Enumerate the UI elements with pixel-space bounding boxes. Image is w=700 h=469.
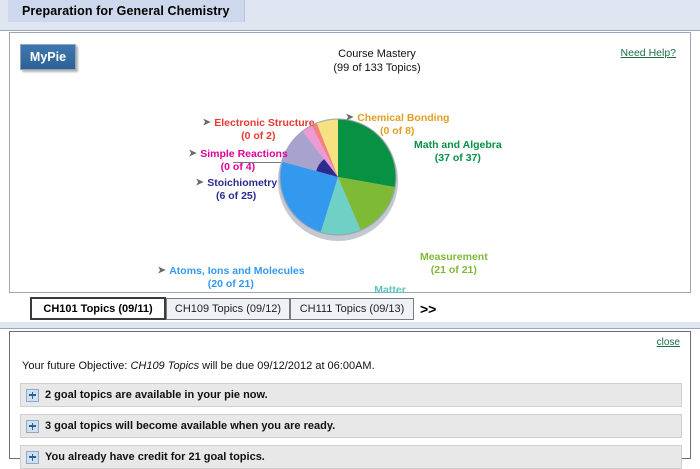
arrow-marker-icon: ➤ [157, 265, 166, 278]
tab-rule [0, 322, 700, 329]
pie-label-stoichiometry-count: (6 of 25) [195, 190, 277, 203]
objective-suffix: will be due 09/12/2012 at 06:00AM. [199, 360, 375, 372]
pie-label-math-and-algebra[interactable]: Math and Algebra (37 of 37) [414, 139, 502, 164]
tab-ch109-topics-label: CH109 Topics (09/12) [175, 303, 281, 315]
title-strip-underline [0, 22, 700, 31]
goal-row-become-available-label: 3 goal topics will become available when… [45, 420, 335, 432]
pie-label-measurement-text: Measurement [420, 251, 488, 263]
objective-detail-panel: close Your future Objective: CH109 Topic… [9, 331, 691, 459]
expand-plus-icon[interactable] [26, 389, 39, 402]
objective-name: CH109 Topics [130, 360, 199, 372]
tabs-next-button[interactable]: >> [420, 301, 436, 317]
pie-label-simple-reactions-count: (0 of 4) [188, 161, 288, 174]
arrow-marker-icon: ➤ [195, 177, 204, 190]
pie-label-atoms-ions-and-molecules-text: Atoms, Ions and Molecules [169, 265, 304, 277]
goal-row-already-credited-label: You already have credit for 21 goal topi… [45, 451, 265, 463]
pie-label-math-and-algebra-text: Math and Algebra [414, 139, 502, 151]
goal-row-available-now[interactable]: 2 goal topics are available in your pie … [20, 383, 682, 407]
pie-label-atoms-ions-and-molecules-count: (20 of 21) [157, 278, 305, 291]
window-title-strip: Preparation for General Chemistry [0, 0, 700, 22]
pie-label-measurement-count: (21 of 21) [420, 264, 488, 277]
pie-label-matter-text: Matter [374, 284, 406, 296]
pie-label-electronic-structure-text: Electronic Structure [214, 117, 314, 129]
pie-label-simple-reactions[interactable]: ➤Simple Reactions (0 of 4) [188, 148, 288, 173]
pie-label-electronic-structure-count: (0 of 2) [202, 130, 315, 143]
tab-ch101-topics-label: CH101 Topics (09/11) [43, 303, 152, 315]
goal-row-already-credited[interactable]: You already have credit for 21 goal topi… [20, 445, 682, 469]
tab-ch101-topics[interactable]: CH101 Topics (09/11) [30, 297, 166, 320]
arrow-marker-icon: ➤ [188, 148, 197, 161]
objective-statement: Your future Objective: CH109 Topics will… [22, 360, 375, 372]
pie-label-simple-reactions-text: Simple Reactions [200, 148, 288, 160]
window-title-tab[interactable]: Preparation for General Chemistry [8, 0, 245, 22]
expand-plus-icon[interactable] [26, 451, 39, 464]
goal-row-available-now-label: 2 goal topics are available in your pie … [45, 389, 268, 401]
pie-label-atoms-ions-and-molecules[interactable]: ➤Atoms, Ions and Molecules (20 of 21) [157, 265, 305, 290]
page-title: Preparation for General Chemistry [22, 4, 230, 18]
objective-tabs: CH101 Topics (09/11) CH109 Topics (09/12… [0, 298, 700, 322]
pie-label-chemical-bonding-text: Chemical Bonding [357, 112, 449, 124]
pie-label-electronic-structure[interactable]: ➤Electronic Structure (0 of 2) [202, 117, 315, 142]
pie-label-chemical-bonding-count: (0 of 8) [345, 125, 449, 138]
pie-chart-stage: ➤Electronic Structure (0 of 2) ➤Chemical… [10, 33, 692, 292]
expand-plus-icon[interactable] [26, 420, 39, 433]
pie-label-stoichiometry[interactable]: ➤Stoichiometry (6 of 25) [195, 177, 277, 202]
tab-ch111-topics-label: CH111 Topics (09/13) [300, 303, 405, 315]
mypie-page: Preparation for General Chemistry MyPie … [0, 0, 700, 466]
close-link[interactable]: close [657, 337, 680, 348]
arrow-marker-icon: ➤ [345, 112, 354, 125]
pie-label-measurement[interactable]: Measurement (21 of 21) [420, 251, 488, 276]
goal-row-become-available[interactable]: 3 goal topics will become available when… [20, 414, 682, 438]
pie-label-stoichiometry-text: Stoichiometry [207, 177, 277, 189]
pie-label-chemical-bonding[interactable]: ➤Chemical Bonding (0 of 8) [345, 112, 449, 137]
pie-panel: MyPie Course Mastery (99 of 133 Topics) … [9, 32, 691, 293]
objective-prefix: Your future Objective: [22, 360, 130, 372]
arrow-marker-icon: ➤ [202, 117, 211, 130]
tab-ch109-topics[interactable]: CH109 Topics (09/12) [166, 298, 290, 320]
tab-ch111-topics[interactable]: CH111 Topics (09/13) [290, 298, 414, 320]
pie-label-math-and-algebra-count: (37 of 37) [414, 152, 502, 165]
